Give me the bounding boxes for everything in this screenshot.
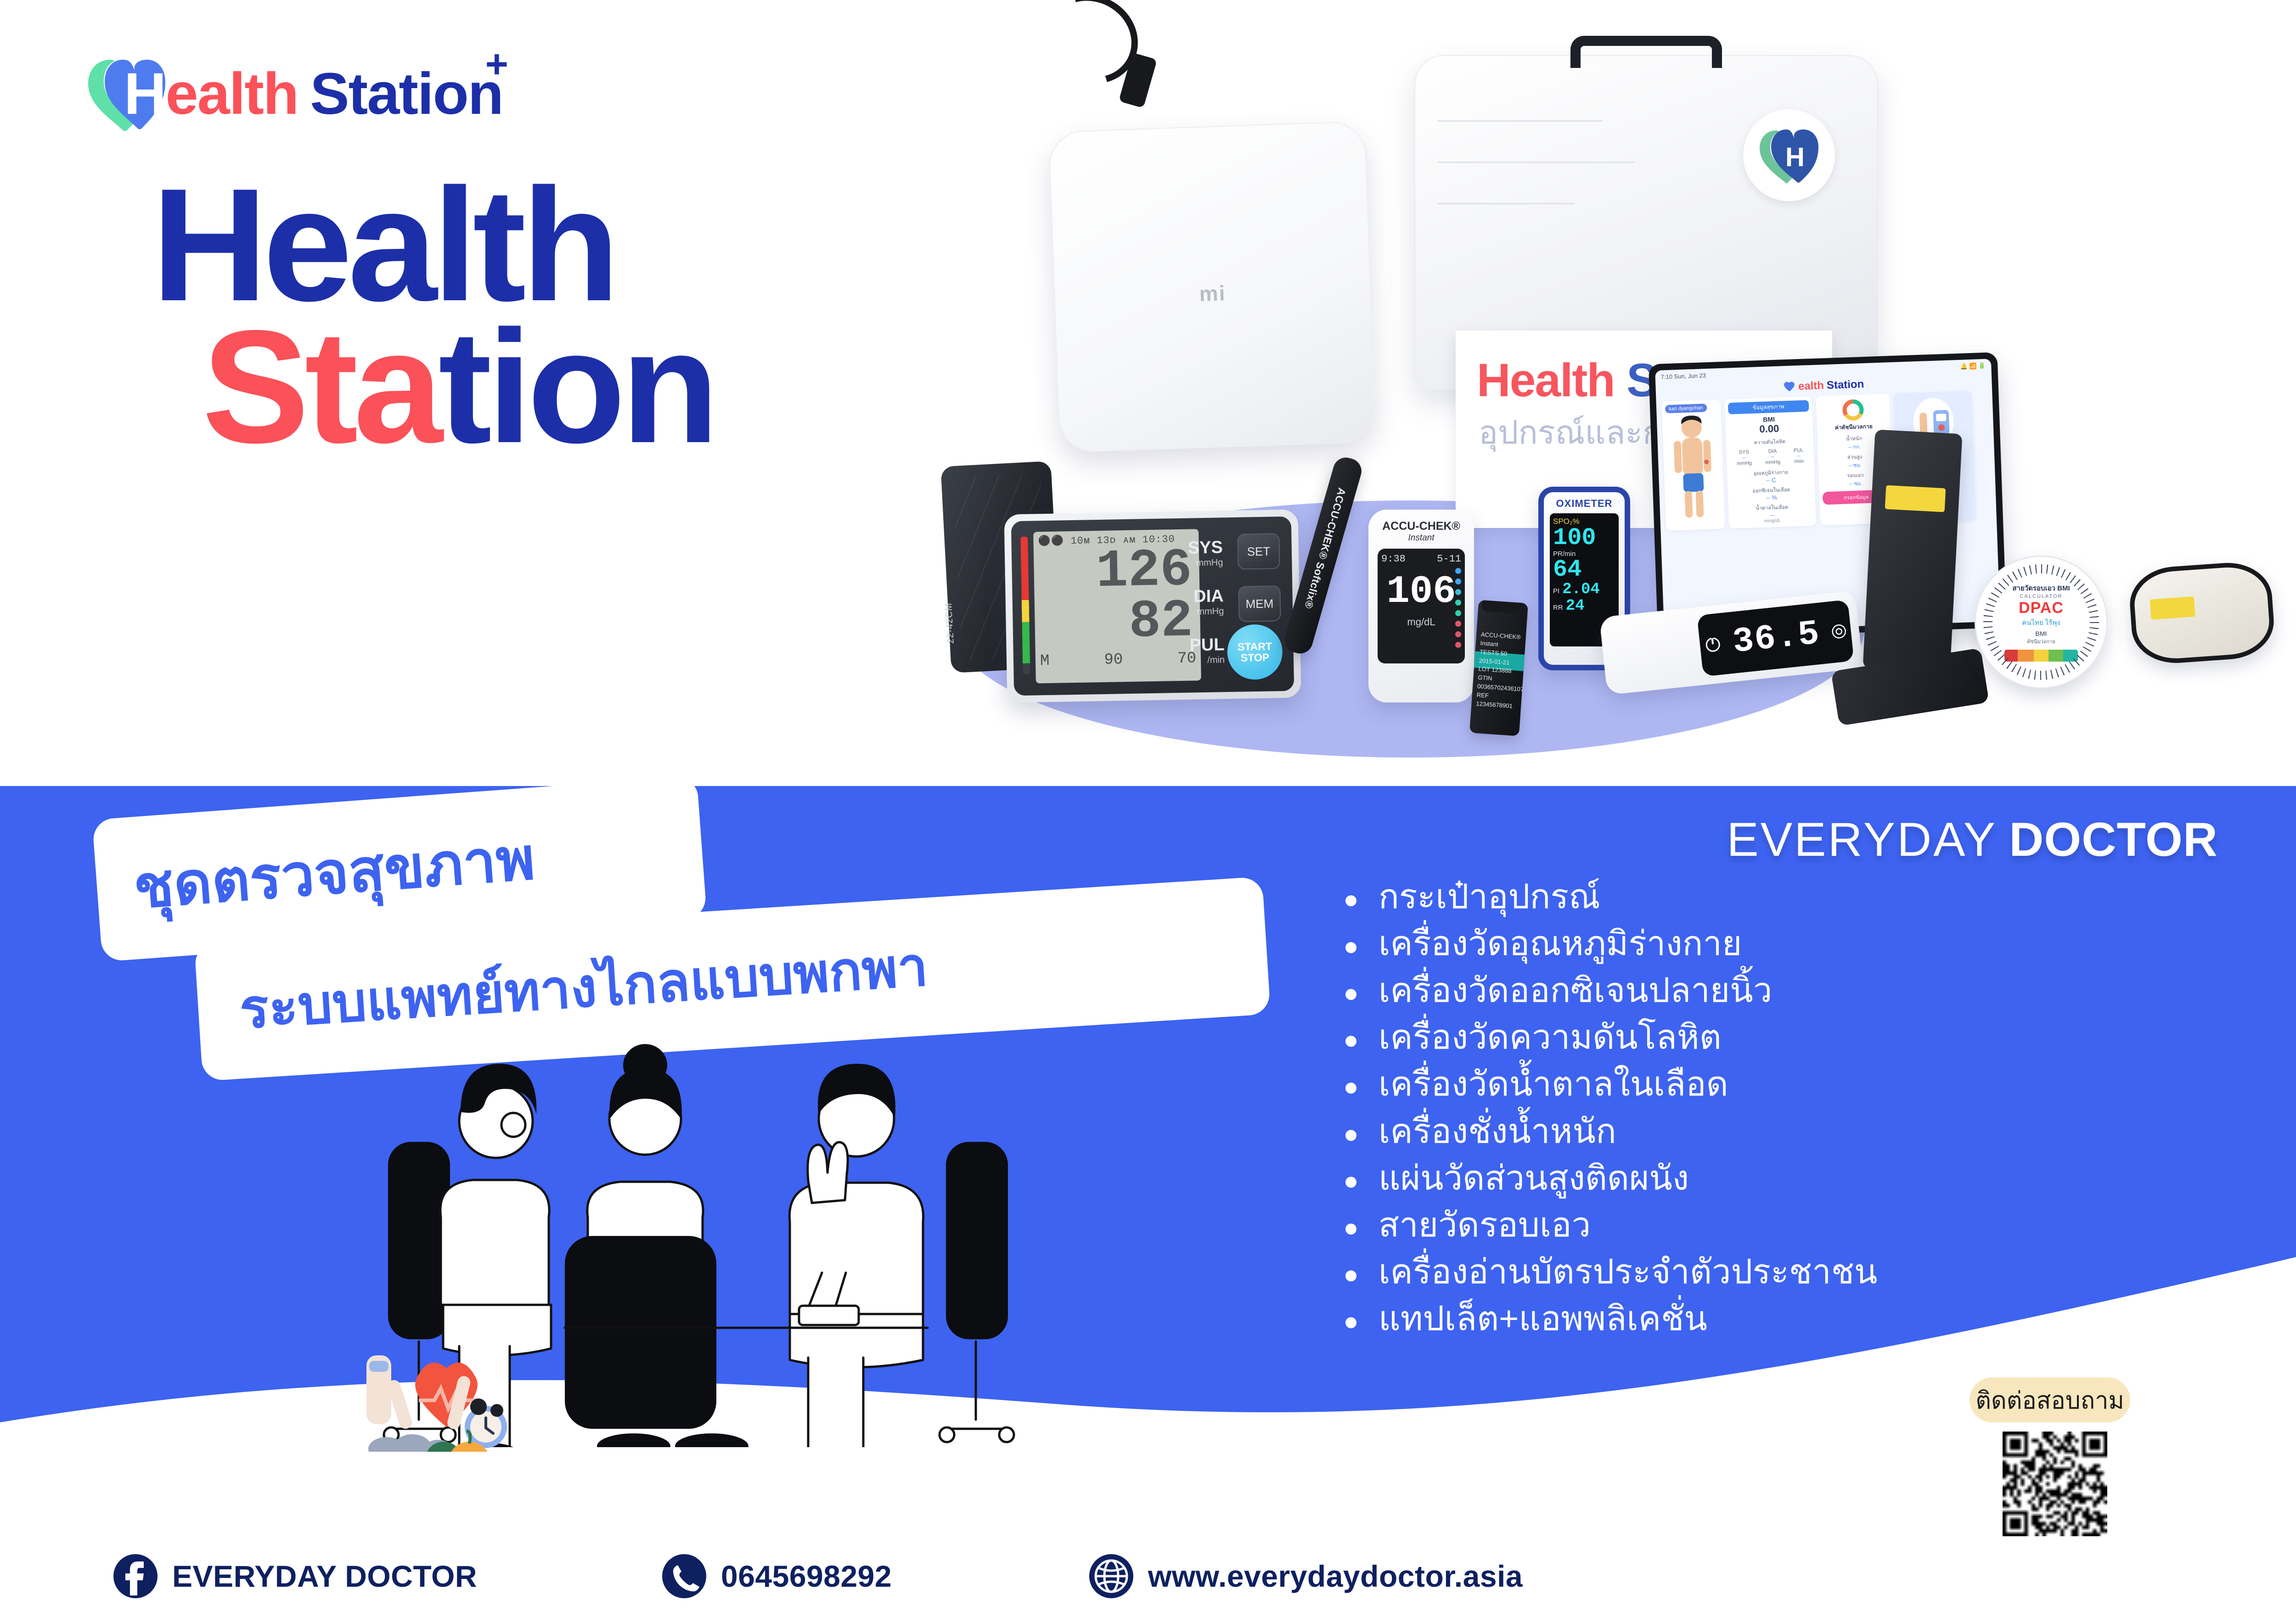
footer-website-text: www.everydaydoctor.asia — [1148, 1559, 1523, 1594]
tablet-unit-mmhg-1: mmHg — [1737, 461, 1752, 466]
bp-pul-unit: /min — [1207, 655, 1225, 665]
oximeter-pi-label: PI — [1553, 587, 1559, 595]
globe-icon — [1088, 1553, 1134, 1599]
headline-line-2: Station — [202, 321, 715, 453]
vial-ref-value: 12345678901 — [1476, 700, 1513, 710]
ruler-window — [1885, 485, 1946, 512]
vial-lot-value: 123888 — [1491, 666, 1512, 674]
bp-sys-label: SYS — [1187, 538, 1223, 557]
footer-facebook-text: EVERYDAY DOCTOR — [172, 1559, 477, 1594]
scale-brand-label: mi — [1199, 281, 1227, 306]
brand-text-ealth: ealth — [165, 65, 298, 124]
contact-badge[interactable]: ติดต่อสอบถาม — [1970, 1377, 2130, 1422]
headline-line-1: Health — [152, 179, 715, 311]
bp-cuff-size-label: 22-42CM — [944, 602, 957, 644]
bp-start-stop-button[interactable]: STARTSTOP — [1227, 624, 1283, 680]
tablet-bp-label: ความดันโลหิต — [1729, 436, 1811, 447]
feature-list-item: สายวัดรอบเอว — [1327, 1202, 2108, 1248]
footer-phone-text: 0645698292 — [721, 1559, 892, 1594]
feature-list-item: เครื่องชั่งน้ำหนัก — [1327, 1108, 2108, 1155]
qr-code-block[interactable] — [2000, 1429, 2110, 1539]
vial-ref-label: REF — [1476, 691, 1489, 699]
case-poster-health: Health — [1477, 354, 1615, 406]
feature-list-item: เครื่องวัดออกซิเจนปลายนิ้ว — [1327, 967, 2108, 1014]
doctor-label: DOCTOR — [2009, 813, 2218, 867]
bp-risk-bar — [1020, 537, 1030, 674]
tablet-status-time: 7:10 Sun, Jun 23 — [1660, 372, 1706, 381]
bmi-tape-measure: สายวัดรอบเอว BMI CALCULATOR DPAC คนไทย ไ… — [1975, 556, 2108, 689]
glucometer-indicator-dots — [1455, 568, 1461, 648]
tablet-vitals-title: ข้อมูลสุขภาพ — [1728, 400, 1809, 414]
tablet-patient-chip: kan dyangchan — [1665, 404, 1707, 413]
tablet-app-ealth: ealth — [1798, 379, 1824, 393]
glucometer-screen: 9:38 5-11 106 mg/dL — [1378, 549, 1465, 663]
tablet-vitals-card[interactable]: ข้อมูลสุขภาพ BMI0.00 ความดันโลหิต SYS--m… — [1725, 396, 1817, 528]
weight-scale-device: mi — [1048, 121, 1376, 453]
tablet-unit-min: /min — [1794, 459, 1804, 465]
feature-list: กระเป๋าอุปกรณ์เครื่องวัดอุณหภูมิร่างกายเ… — [1327, 873, 2108, 1342]
brand-text-station: Station — [310, 65, 503, 124]
glucometer-brand-name: ACCU-CHEK® — [1382, 520, 1460, 533]
feature-list-item: แผ่นวัดส่วนสูงติดผนัง — [1327, 1155, 2108, 1202]
brand-logo-lockup: HealthStation + — [86, 51, 503, 136]
everyday-label: EVERYDAY — [1727, 813, 1997, 867]
brand-wordmark: HealthStation + — [124, 65, 503, 124]
facebook-icon — [113, 1553, 158, 1599]
footer-phone[interactable]: 0645698292 — [661, 1553, 892, 1599]
glucometer-unit: mg/dL — [1381, 616, 1461, 628]
vial-tests-value: 50 — [1500, 650, 1507, 657]
bp-stop-label: STOP — [1241, 651, 1270, 664]
tablet-bmi-label: BMI — [1763, 416, 1775, 423]
oximeter-pi-value: 2.04 — [1562, 582, 1600, 597]
bp-dia-unit: mmHg — [1197, 606, 1224, 617]
footer-contact-bar: EVERYDAY DOCTOR 0645698292 www.everydayd… — [0, 1529, 2296, 1623]
bp-dia-value: 82 — [1039, 596, 1196, 650]
forehead-mode-icon — [1830, 623, 1848, 641]
bp-mem-button[interactable]: MEM — [1238, 585, 1281, 622]
glucometer-time-left: 9:38 — [1381, 553, 1406, 565]
page-title: Health Station — [152, 179, 715, 453]
svg-text:H: H — [1785, 142, 1805, 172]
contact-badge-text: ติดต่อสอบถาม — [1975, 1381, 2124, 1419]
oximeter-title: OXIMETER — [1548, 498, 1621, 510]
tablet-body-ring-icon — [1842, 399, 1864, 421]
thermometer-screen: 36.5 — [1697, 600, 1854, 677]
glucometer-reading: 106 — [1381, 573, 1461, 612]
tablet-status-icons: 🔔 📶 🔋 — [1960, 362, 1986, 371]
brand-plus-icon: + — [485, 45, 507, 84]
id-card-reader-device — [2127, 560, 2276, 666]
reader-yellow-label — [2150, 596, 2195, 620]
tablet-spo2-unit: % — [1772, 494, 1777, 501]
oximeter-rr-value: 24 — [1566, 598, 1585, 614]
feature-list-item: กระเป๋าอุปกรณ์ — [1327, 873, 2108, 920]
top-hero-section: HealthStation + Health Station H Heal — [0, 0, 2296, 786]
blue-content-section: ชุดตรวจสุขภาพ ระบบแพทย์ทางไกลแบบพกพา EVE… — [0, 786, 2296, 1452]
tape-tick-marks — [1981, 562, 2102, 683]
everyday-doctor-brand: EVERYDAY DOCTOR — [1727, 813, 2218, 867]
vial-tests-label: TESTS — [1480, 648, 1499, 657]
wall-height-ruler-device — [1863, 429, 1963, 672]
power-icon — [1703, 635, 1723, 655]
tablet-weight-unit: กก. — [1853, 444, 1861, 450]
feature-list-item: เครื่องวัดความดันโลหิต — [1327, 1014, 2108, 1061]
oximeter-rr-label: RR — [1553, 604, 1563, 612]
vial-gtin-label: GTIN — [1478, 674, 1492, 682]
bp-memory-label: M — [1040, 652, 1050, 670]
tablet-temp-unit: C — [1772, 477, 1776, 483]
headline-sta: Sta — [202, 297, 439, 477]
bp-dia-label: DIA — [1193, 586, 1224, 606]
feature-list-item: เครื่องวัดน้ำตาลในเลือด — [1327, 1061, 2108, 1107]
oximeter-spo2-value: 100 — [1553, 526, 1615, 550]
tablet-patient-card[interactable]: kan dyangchan — [1662, 399, 1725, 531]
suitcase-logo-badge: H — [1743, 109, 1835, 201]
banner-1-text: ชุดตรวจสุขภาพ — [132, 830, 537, 918]
tablet-waist-unit: ซม. — [1854, 481, 1862, 487]
bp-set-button[interactable]: SET — [1237, 533, 1280, 570]
feature-list-item: เครื่องอ่านบัตรประจำตัวประชาชน — [1327, 1248, 2108, 1295]
bp-start-label: START — [1238, 640, 1272, 652]
blood-pressure-monitor: ⚫⚫ 10ᴍ 13ᴅ ᴀᴍ 10:30 126 82 M 90 70 SYSmm… — [1004, 509, 1301, 702]
vial-lot-label: LOT — [1478, 665, 1490, 673]
test-strip-vial: ACCU-CHEK® Instant TESTS 50 2015-01-21 L… — [1469, 600, 1528, 736]
bp-sys-value: 126 — [1038, 545, 1195, 598]
brand-letter-h: H — [124, 65, 165, 124]
feature-list-item: เครื่องวัดอุณหภูมิร่างกาย — [1327, 920, 2108, 967]
phone-icon — [661, 1553, 707, 1599]
tablet-unit-mmhg-2: mmHg — [1765, 460, 1780, 466]
glucometer-time-right: 5-11 — [1437, 553, 1461, 565]
tablet-height-unit: ซม. — [1853, 462, 1862, 468]
tablet-col-pul: PUL — [1794, 448, 1804, 454]
bp-lcd-screen: ⚫⚫ 10ᴍ 13ᴅ ᴀᴍ 10:30 126 82 M 90 70 — [1033, 529, 1201, 683]
banner-2-text: ระบบแพทย์ทางไกลแบบพกพา — [238, 939, 929, 1037]
glucometer-model: Instant — [1375, 533, 1468, 543]
thermometer-reading: 36.5 — [1731, 614, 1822, 662]
glucose-meter-device: ACCU-CHEK®Instant 9:38 5-11 106 mg/dL — [1368, 510, 1474, 702]
bp-sys-unit: mmHg — [1196, 557, 1223, 568]
bp-pul-label: PUL — [1189, 635, 1225, 655]
vial-brand: ACCU-CHEK® Instant — [1480, 630, 1523, 651]
product-photo-group: H Health Station อุปกรณ์และการตรวจ mi 22… — [928, 28, 2296, 762]
glucometer-brand: ACCU-CHEK®Instant — [1375, 520, 1468, 543]
footer-facebook[interactable]: EVERYDAY DOCTOR — [113, 1553, 477, 1599]
oximeter-pr-value: 64 — [1553, 558, 1615, 582]
feature-list-item: แทปเล็ต+แอพพลิเคชั่น — [1327, 1295, 2108, 1342]
tablet-app-station: Station — [1826, 378, 1864, 392]
tablet-bmi-value: 0.00 — [1728, 421, 1810, 436]
headline-tion: tion — [439, 297, 715, 477]
qr-code-image — [2003, 1432, 2107, 1536]
footer-website[interactable]: www.everydaydoctor.asia — [1088, 1553, 1523, 1599]
health-icons-cluster — [363, 1337, 560, 1452]
suitcase-handle-icon — [1570, 36, 1722, 68]
bp-memory-num: 90 — [1104, 651, 1123, 669]
